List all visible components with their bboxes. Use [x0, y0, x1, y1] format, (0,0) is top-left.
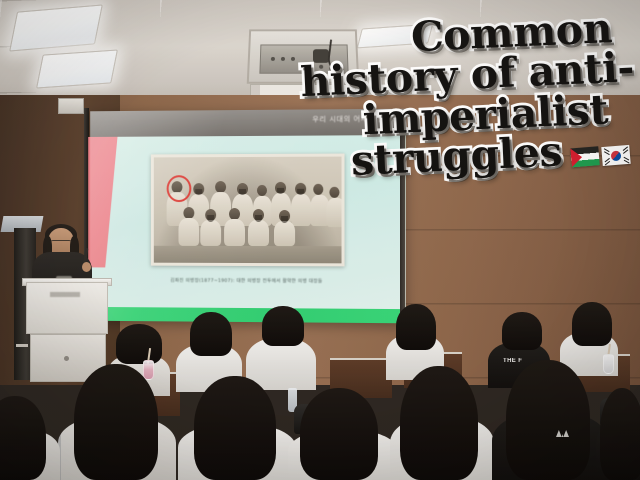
photo-figure-beard: [297, 189, 304, 195]
photo-figure-beard: [239, 189, 246, 195]
student-hair: [116, 324, 162, 364]
photo-figure-beard: [255, 215, 262, 222]
slide-photo-frame: [151, 154, 345, 267]
tumbler-cup: [603, 354, 614, 374]
ceiling-light-panel: [36, 49, 118, 88]
student-hair: [506, 360, 590, 480]
photo-figure-beard: [281, 216, 288, 223]
photo-figure-body: [291, 194, 311, 226]
student-hair: [502, 312, 542, 350]
historical-group-photo: [154, 157, 342, 264]
photo-figure-body: [248, 220, 269, 246]
slide-header-text: 우리 시대의 어제와 팔레스: [312, 114, 399, 125]
screen-frame-right: [400, 112, 405, 324]
photo-figure-beard: [195, 189, 202, 195]
slide-green-band: [90, 307, 405, 323]
student-hair: [300, 388, 378, 480]
red-highlight-circle: [167, 175, 192, 202]
ceiling-projector: [247, 29, 360, 83]
projector-indicator: [271, 57, 275, 61]
student-hair: [190, 312, 232, 356]
photo-figure-beard: [207, 215, 214, 222]
photo-figure-head: [313, 184, 323, 195]
student-hair: [396, 304, 436, 350]
projector-indicator: [291, 57, 295, 61]
photo-figure-head: [329, 187, 339, 198]
student-hair: [194, 376, 276, 480]
podium: [26, 282, 108, 334]
equipment-rack-label: [16, 344, 28, 347]
projector-lens: [313, 49, 329, 63]
photo-foreground-ground: [154, 246, 342, 264]
projector-indicator: [319, 65, 323, 69]
podium-knob: [64, 356, 69, 361]
photo-figure-body: [224, 219, 245, 246]
slide-body: 김좌진 의병장(1877~1907): 대한 의병장 전투에서 활약한 의병 대…: [90, 135, 405, 323]
wall-mounted-box: [58, 98, 84, 114]
student-hair: [0, 396, 46, 480]
presenter-glasses: [50, 240, 72, 246]
student-hair: [74, 364, 158, 480]
projection-screen: 우리 시대의 어제와 팔레스: [90, 109, 405, 324]
lecture-hall-photo: 우리 시대의 어제와 팔레스: [0, 0, 640, 480]
photo-figure-body: [178, 218, 199, 246]
student-hair: [600, 388, 640, 480]
photo-figure-beard: [277, 188, 284, 194]
slide-photo-caption: 김좌진 의병장(1877~1907): 대한 의병장 전투에서 활약한 의병 대…: [90, 277, 405, 285]
projector-indicator: [281, 57, 285, 61]
photo-figure-body: [326, 198, 341, 227]
student-hair: [572, 302, 612, 346]
photo-figure-body: [200, 220, 221, 246]
student-hair: [262, 306, 304, 346]
slide-pink-shape: [88, 137, 117, 268]
tshirt-text: THE F: [503, 358, 522, 364]
presenter-hand: [82, 262, 91, 272]
ceiling-light-panel: [9, 4, 103, 51]
tumbler-cup: [143, 360, 154, 380]
podium-label: [50, 292, 80, 297]
slide-header-bar: 우리 시대의 어제와 팔레스: [90, 109, 405, 137]
student-hair: [400, 366, 478, 480]
photo-figure-body: [274, 221, 295, 246]
photo-figure-head: [257, 185, 267, 196]
